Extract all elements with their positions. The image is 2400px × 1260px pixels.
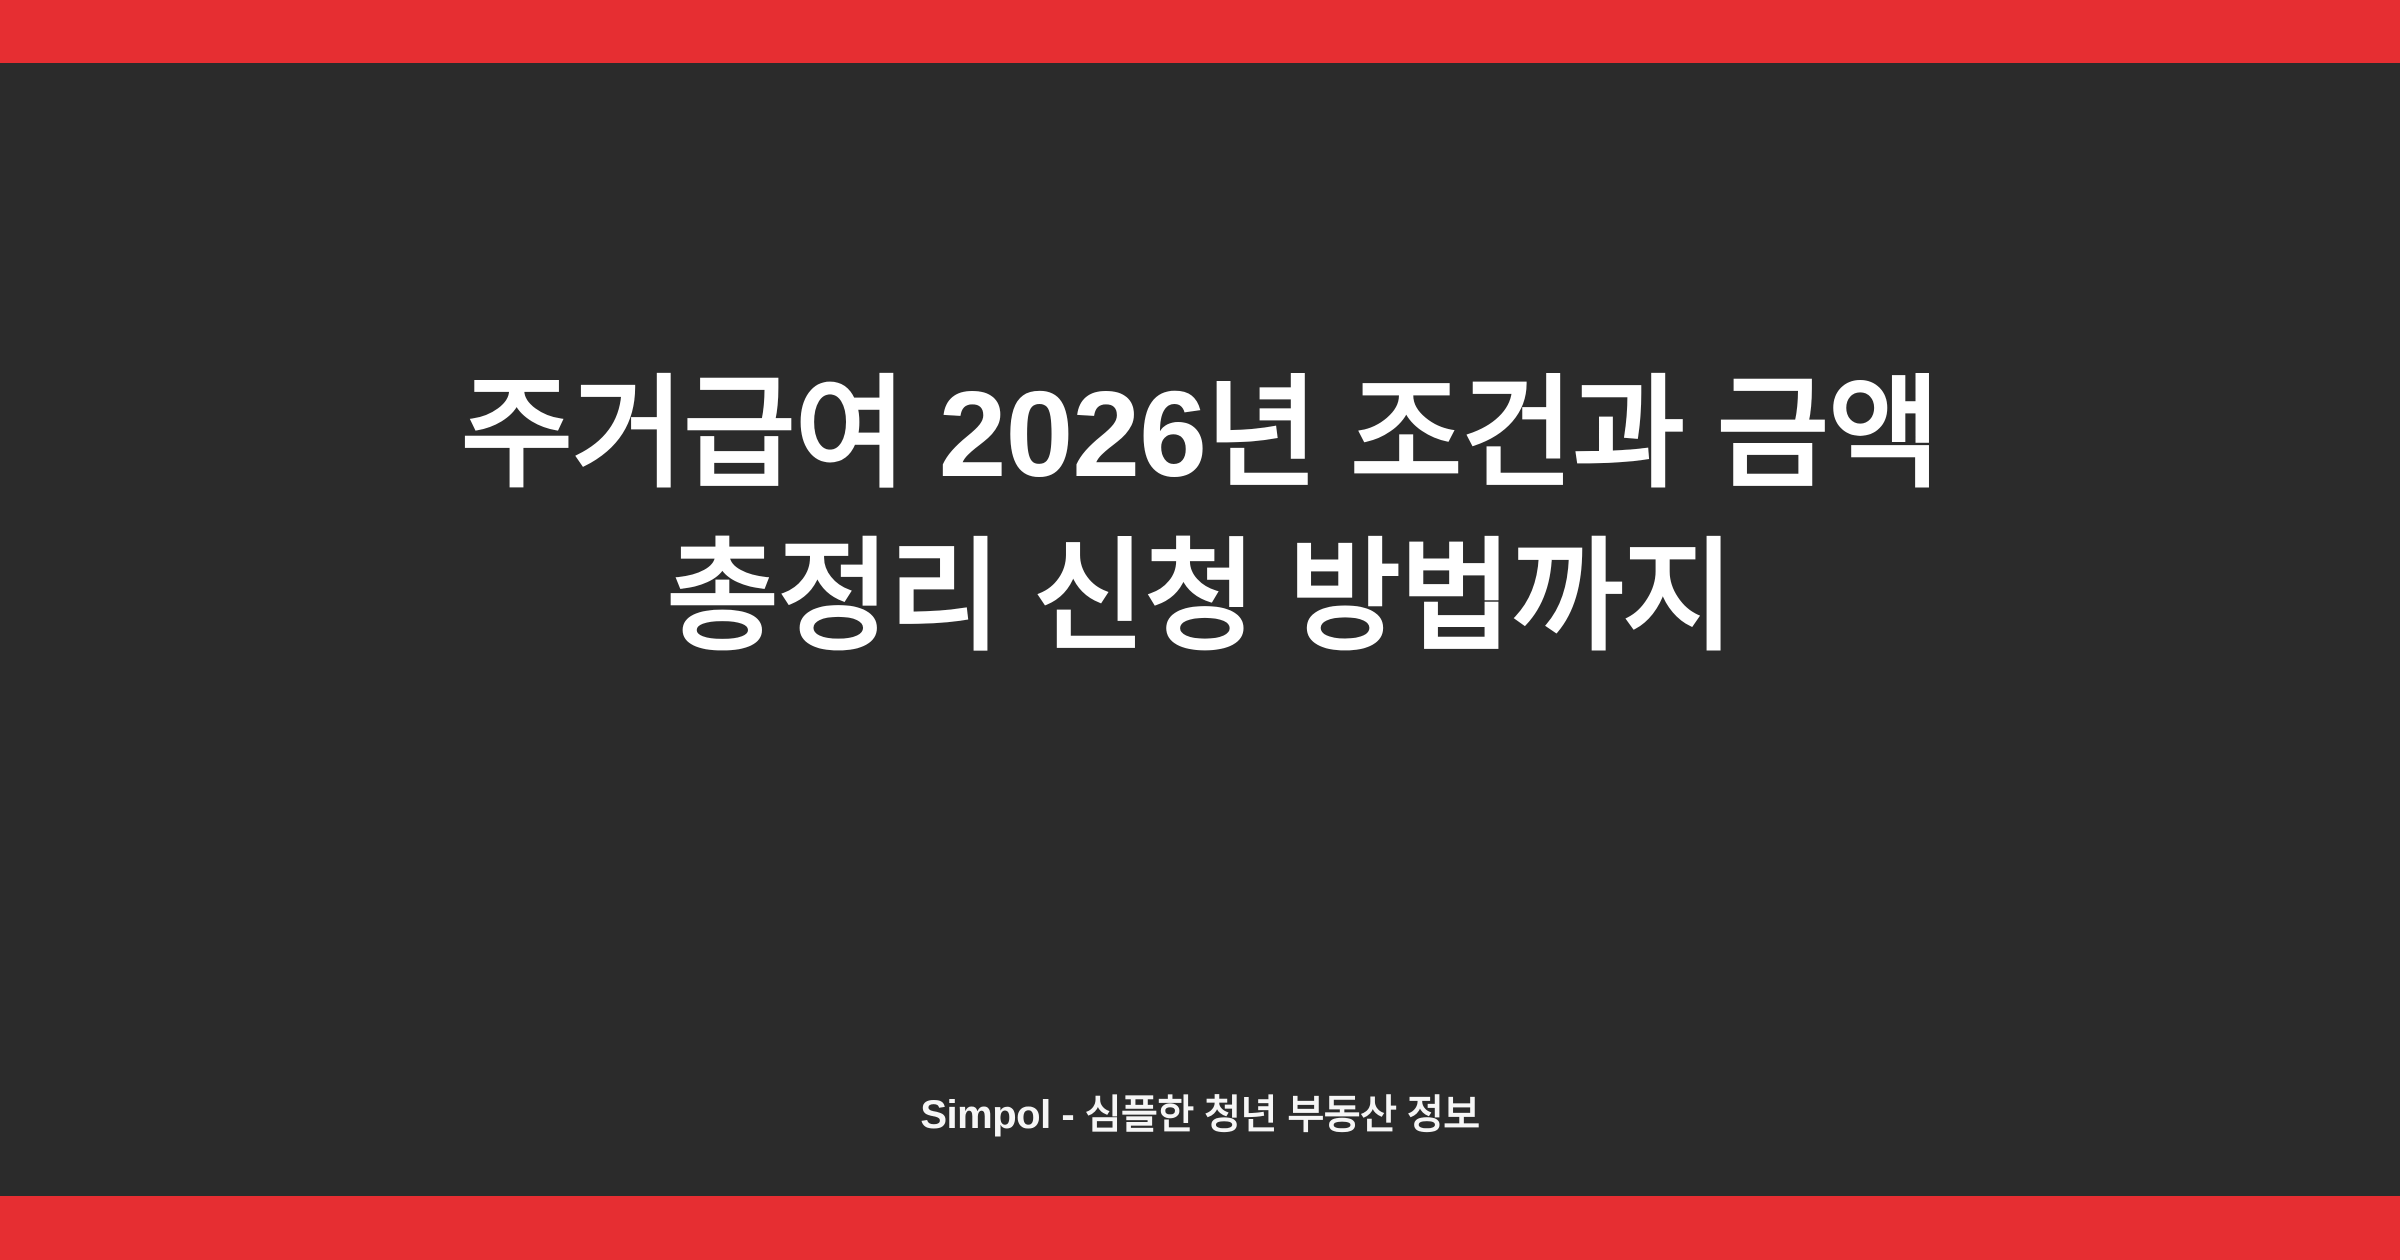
brand-footer: Simpol - 심플한 청년 부동산 정보 bbox=[0, 1089, 2400, 1141]
title-line-2: 총정리 신청 방법까지 bbox=[150, 516, 2250, 679]
page-title: 주거급여 2026년 조건과 금액 총정리 신청 방법까지 bbox=[0, 353, 2400, 679]
title-line-1: 주거급여 2026년 조건과 금액 bbox=[150, 353, 2250, 516]
top-accent-bar bbox=[0, 0, 2400, 63]
bottom-accent-bar bbox=[0, 1196, 2400, 1260]
banner-body: 주거급여 2026년 조건과 금액 총정리 신청 방법까지 Simpol - 심… bbox=[0, 63, 2400, 1196]
thumbnail-card: 주거급여 2026년 조건과 금액 총정리 신청 방법까지 Simpol - 심… bbox=[0, 0, 2400, 1260]
brand-footer-text: Simpol - 심플한 청년 부동산 정보 bbox=[920, 1089, 1479, 1141]
